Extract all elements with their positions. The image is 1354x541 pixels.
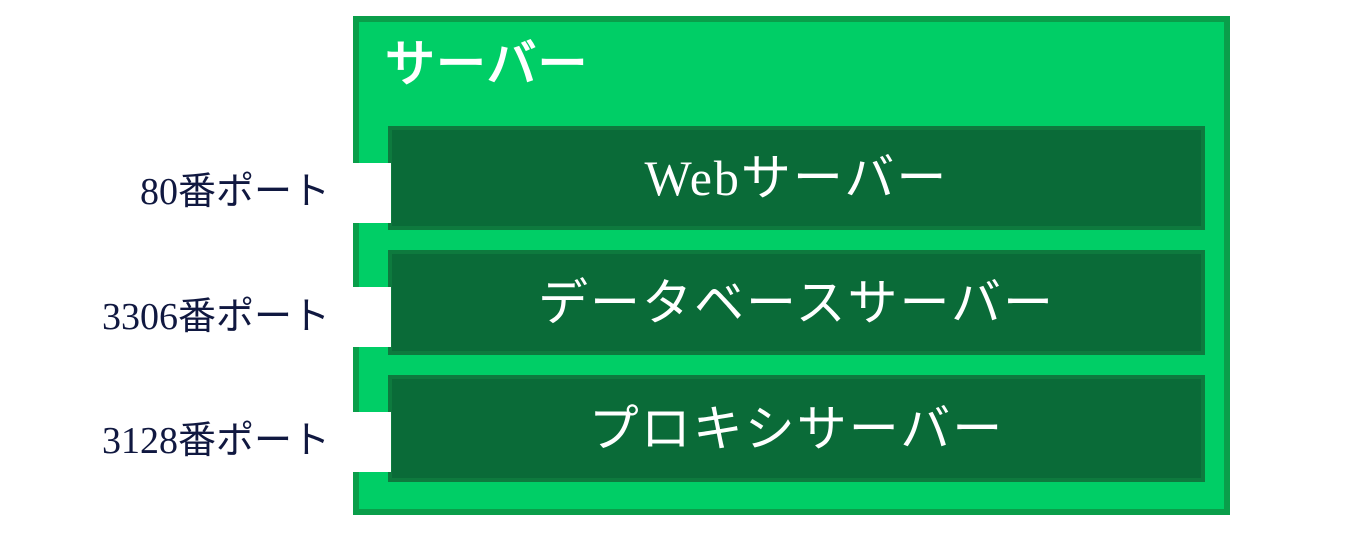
service-box-database: データベースサーバー bbox=[388, 250, 1205, 355]
port-label-database: 3306番ポート bbox=[0, 295, 330, 339]
service-label-web: Webサーバー bbox=[645, 149, 949, 207]
service-label-proxy: プロキシサーバー bbox=[589, 400, 1005, 458]
port-notch-web bbox=[345, 163, 391, 223]
port-label-web: 80番ポート bbox=[0, 170, 330, 214]
service-label-database: データベースサーバー bbox=[538, 274, 1055, 332]
port-label-proxy: 3128番ポート bbox=[0, 419, 330, 463]
port-notch-proxy bbox=[345, 412, 391, 472]
server-title: サーバー bbox=[385, 36, 589, 92]
diagram-canvas: サーバー Webサーバー データベースサーバー プロキシサーバー 80番ポート … bbox=[0, 0, 1354, 541]
service-box-web: Webサーバー bbox=[388, 126, 1205, 230]
service-box-proxy: プロキシサーバー bbox=[388, 375, 1205, 482]
port-notch-database bbox=[345, 287, 391, 347]
